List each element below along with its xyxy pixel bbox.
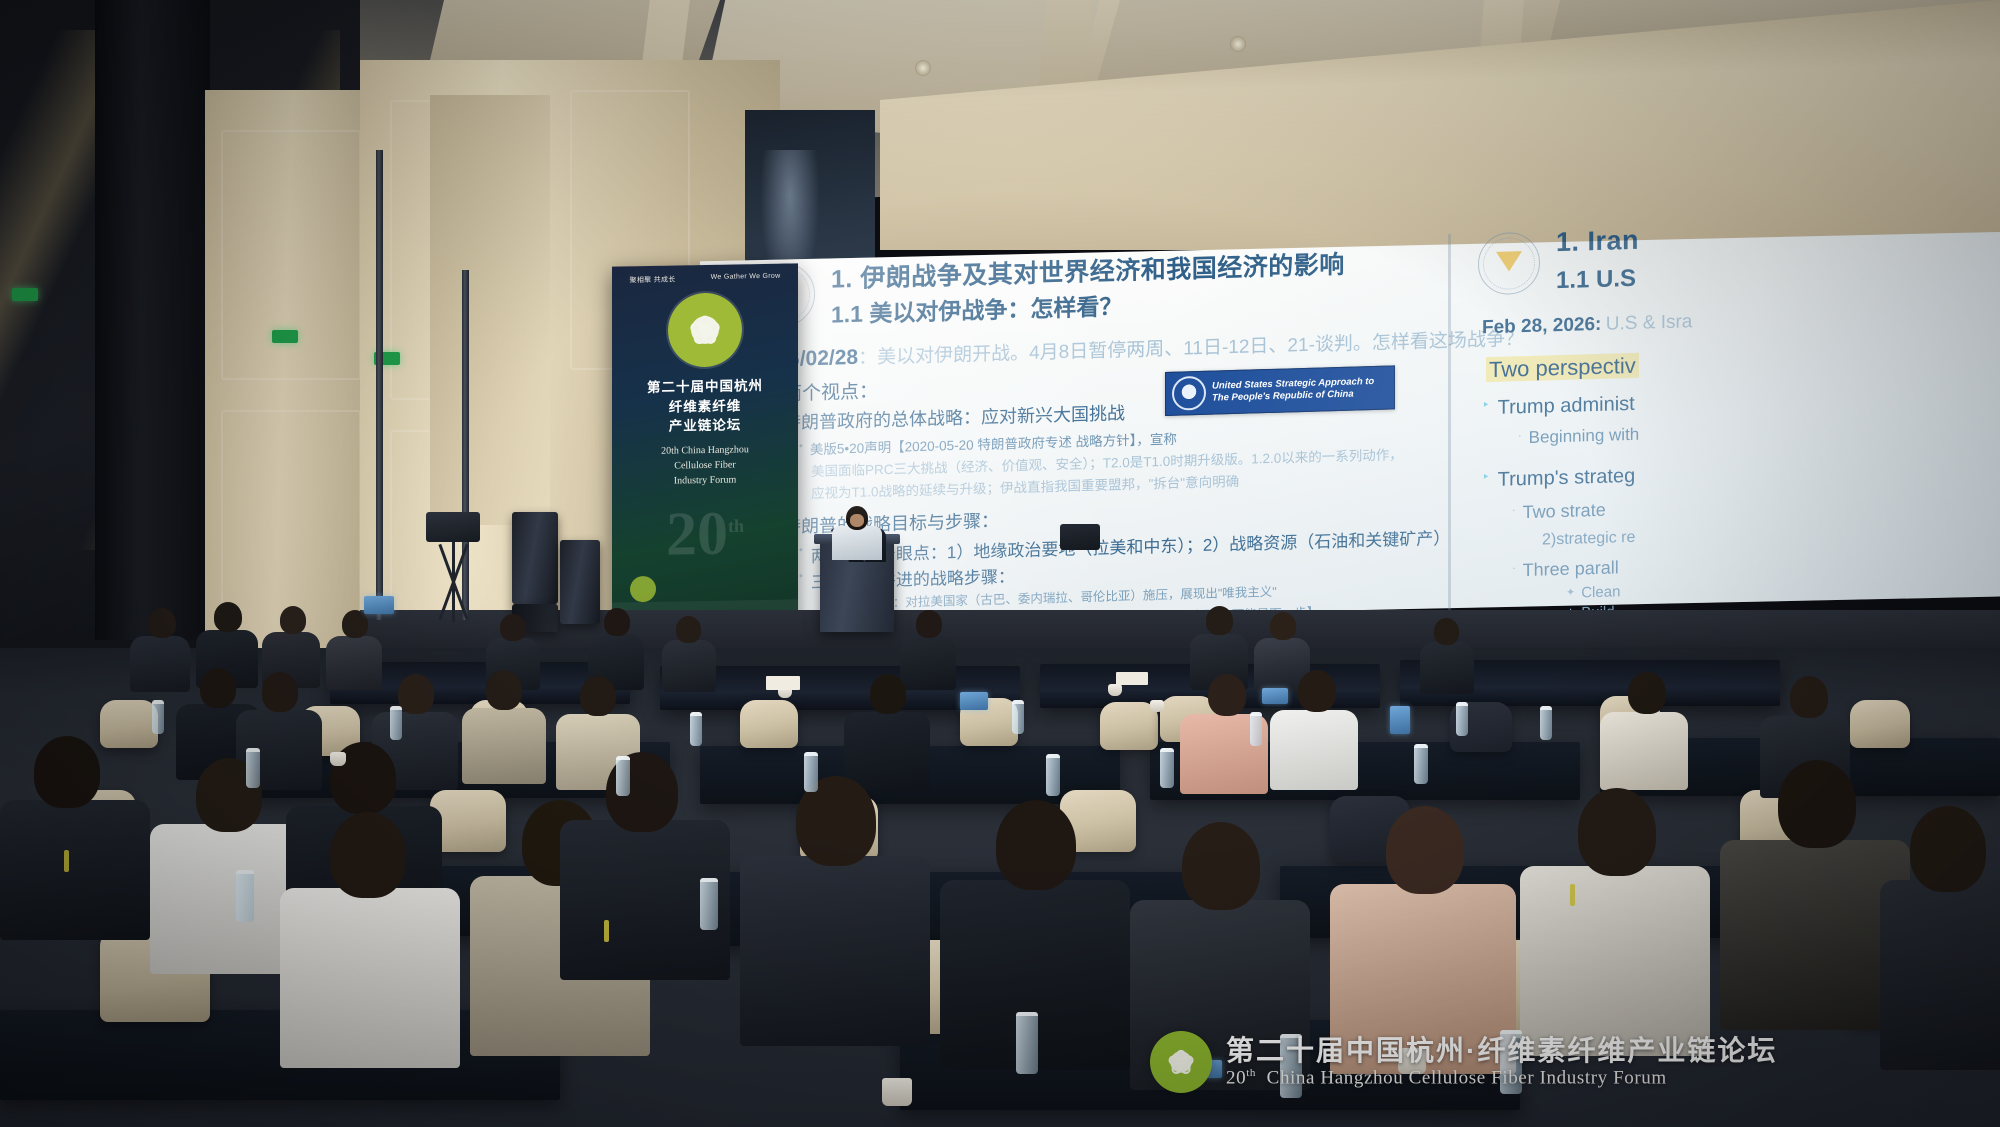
laptop-screen <box>364 596 394 614</box>
banner-leaf-icon <box>630 576 656 602</box>
attendee-head <box>1910 806 1986 892</box>
attendee-head <box>214 602 242 632</box>
bullet-en-level2: Three parall <box>1523 557 1619 581</box>
water-bottle <box>1160 748 1174 788</box>
attendee-head <box>34 736 100 808</box>
water-bottle <box>1414 744 1428 784</box>
chair <box>1850 700 1910 748</box>
attendee-head <box>1270 612 1296 640</box>
banner-title-en-3: Industry Forum <box>612 471 798 489</box>
slide-english: 1. Iran 1.1 U.S Feb 28, 2026: U.S & Isra… <box>1470 206 2000 621</box>
attendee-torso <box>1270 710 1358 790</box>
conference-photo: 1. 伊朗战争及其对世界经济和我国经济的影响 1.1 美以对伊战争：怎样看？ 2… <box>0 0 2000 1127</box>
bullet-en-level3: Clean <box>1581 583 1620 601</box>
attendee-head <box>280 606 306 634</box>
wall-pillar-center <box>430 95 550 525</box>
bullet-dot-icon: • <box>799 438 803 455</box>
attendee-torso <box>740 856 930 1046</box>
video-camera-secondary <box>1060 524 1100 550</box>
bullet-dot-icon: • <box>799 542 803 559</box>
water-bottle <box>246 748 260 788</box>
water-bottle <box>1540 706 1552 740</box>
tea-cup <box>1108 684 1122 696</box>
attendee-head <box>262 672 298 712</box>
ceiling-downlight <box>1230 36 1246 52</box>
attendee-head <box>500 614 526 641</box>
slide-en-subtitle: 1.1 U.S <box>1556 265 1636 295</box>
water-bottle <box>1250 712 1262 746</box>
water-bottle <box>1456 702 1468 736</box>
exit-sign <box>272 330 298 343</box>
slide-en-date-text: U.S & Isra <box>1606 311 1693 334</box>
attendee-head <box>1778 760 1856 848</box>
presidential-seal-icon <box>1478 232 1540 296</box>
attendee-torso <box>280 888 460 1068</box>
bullet-dash-icon: ‣ <box>1482 397 1490 414</box>
attendee-torso <box>326 636 382 690</box>
attendee-head <box>1206 606 1233 635</box>
forum-logo-icon: ❀ <box>668 292 742 367</box>
pa-speaker-stack <box>560 540 600 624</box>
water-bottle <box>700 878 718 930</box>
banner-tagline-en: We Gather We Grow <box>711 273 781 284</box>
attendee-head <box>580 676 616 716</box>
attendee-torso <box>662 640 716 692</box>
water-bottle <box>1046 754 1060 796</box>
attendee-lanyard <box>604 920 609 942</box>
name-card <box>1116 672 1148 685</box>
watermark-title-en: 20th China Hangzhou Cellulose Fiber Indu… <box>1226 1067 1777 1089</box>
chair <box>100 700 158 748</box>
exit-sign <box>12 288 38 301</box>
truss-pole <box>376 150 383 620</box>
roll-up-banner: 聚相聚 共成长 We Gather We Grow ❀ 第二十届中国杭州 纤维素… <box>612 263 798 636</box>
slide-subtitle: 1.1 美以对伊战争：怎样看？ <box>831 287 1122 329</box>
water-bottle <box>804 752 818 792</box>
water-bottle <box>690 712 702 746</box>
slide-en-title: 1. Iran <box>1556 225 1639 258</box>
video-camera <box>426 512 480 542</box>
attendee-torso <box>900 636 956 690</box>
attendee-torso <box>844 712 930 790</box>
attendee-head <box>1790 676 1828 718</box>
water-bottle <box>236 870 254 922</box>
bullet-en-numbered: 2)strategic re <box>1542 529 1635 550</box>
attendee-head <box>330 812 406 898</box>
attendee-torso <box>130 636 190 692</box>
attendee-torso <box>0 800 150 940</box>
tea-cup <box>330 752 346 766</box>
attendee-torso <box>1420 642 1474 694</box>
attendee-head <box>870 674 906 714</box>
attendee-head <box>200 668 236 708</box>
bullet-dot-icon: · <box>1512 560 1516 577</box>
laptop-screen <box>960 692 988 710</box>
attendee-head <box>1578 788 1656 876</box>
water-bottle <box>1012 700 1024 734</box>
attendee-head <box>1434 618 1459 645</box>
name-card <box>766 676 800 690</box>
bullet-star-icon: ✦ <box>1566 585 1575 602</box>
attendee-torso <box>1600 712 1688 790</box>
banner-title-cn-3: 产业链论坛 <box>612 415 798 438</box>
attendee-head <box>996 800 1076 890</box>
attendee-lanyard <box>64 850 69 872</box>
screen-seam <box>1448 234 1451 619</box>
pa-speaker-stack <box>512 512 558 604</box>
speaker-face <box>850 514 864 527</box>
attendee-head <box>1208 674 1246 716</box>
slide-en-date-label: Feb 28, 2026: <box>1482 314 1601 338</box>
bullet-en-level2: Beginning with <box>1529 425 1640 448</box>
attendee-head <box>916 610 942 638</box>
chair <box>1100 702 1158 750</box>
forum-logo-icon: ❀ <box>1150 1031 1212 1093</box>
speaker-shirt <box>832 526 882 560</box>
attendee-lanyard <box>1570 884 1575 906</box>
bullet-en-level1: Trump's strateg <box>1498 465 1636 492</box>
column-left <box>95 0 210 640</box>
attendee-head <box>1386 806 1464 894</box>
water-bottle <box>1016 1012 1038 1074</box>
slide-date-text: ：美以对伊朗开战。4月8日暂停两周、11日-12日、21-谈判。怎样看这场战争？ <box>858 329 1524 369</box>
bullet-dot-icon: · <box>1512 502 1516 519</box>
bullet-en-level1: Trump administ <box>1498 393 1635 420</box>
ceiling-downlight <box>915 60 931 76</box>
chair <box>740 700 798 748</box>
bullet-en-level2: Two strate <box>1523 500 1606 523</box>
tea-cup <box>882 1078 912 1106</box>
banner-anniversary: 20th <box>666 502 744 565</box>
attendee-head <box>676 616 701 643</box>
phone-screen <box>1390 706 1410 734</box>
water-bottle <box>616 756 630 796</box>
laptop-screen <box>1262 688 1288 704</box>
us-strategic-approach-badge: United States Strategic Approach to The … <box>1165 365 1395 416</box>
attendee-head <box>486 670 522 710</box>
water-bottle <box>152 700 164 734</box>
attendee-head <box>342 610 368 638</box>
us-seal-icon <box>1172 376 1206 411</box>
camera-tripod <box>418 512 488 622</box>
attendee-head <box>1182 822 1260 910</box>
bullet-dot-icon: · <box>1518 428 1522 445</box>
tea-cup <box>1150 700 1164 712</box>
attendee-head <box>1628 672 1666 714</box>
event-watermark: ❀ 第二十届中国杭州·纤维素纤维产业链论坛 20th China Hangzho… <box>1150 1022 1980 1102</box>
attendee-head <box>1298 670 1336 712</box>
attendee-head <box>604 608 630 636</box>
attendee-torso <box>462 708 546 784</box>
bullet-dash-icon: ‣ <box>1482 469 1490 486</box>
attendee-head <box>398 674 434 714</box>
watermark-title-cn: 第二十届中国杭州·纤维素纤维产业链论坛 <box>1226 1035 1777 1067</box>
bullet-dot-icon: • <box>799 568 803 585</box>
banner-tagline-cn: 聚相聚 共成长 <box>630 275 676 286</box>
slide-en-lead: Two perspectiv <box>1486 353 1639 383</box>
water-bottle <box>390 706 402 740</box>
attendee-head <box>148 608 176 638</box>
